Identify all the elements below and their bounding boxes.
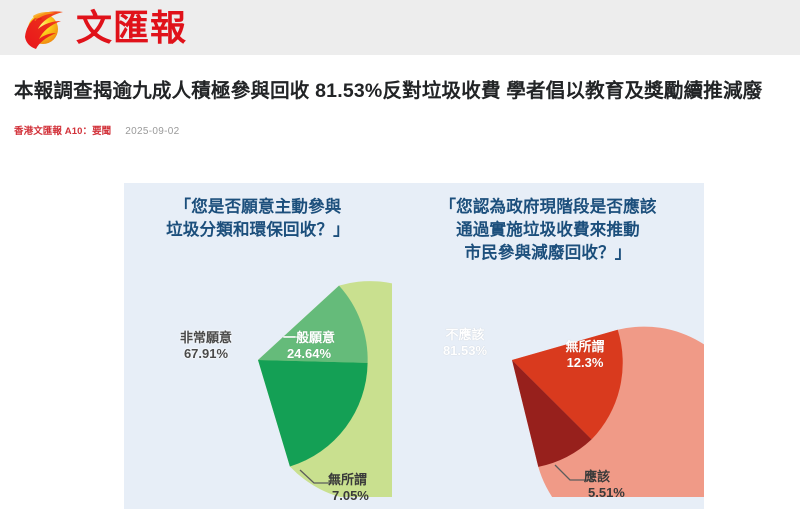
chart-2-title-line-3: 市民參與減廢回收？」 bbox=[392, 242, 704, 265]
chart-1-title: 「您是否願意主動參與 垃圾分類和環保回收？」 bbox=[124, 183, 392, 242]
wenweipo-sunburst-logo-icon: WWP bbox=[22, 7, 74, 51]
chart-2-title-line-1: 「您認為政府現階段是否應該 bbox=[392, 196, 704, 219]
byline-source: 香港文匯報 A10：要聞 bbox=[14, 123, 111, 137]
masthead-divider bbox=[0, 55, 800, 57]
byline-date: 2025-09-02 bbox=[125, 126, 179, 137]
chart-2-title: 「您認為政府現階段是否應該 通過實施垃圾收費來推動 市民參與減廢回收？」 bbox=[392, 183, 704, 265]
chart-2-pie: 不應該 81.53% 無所謂 12.3% 應該 5.51% bbox=[392, 265, 704, 502]
chart-1-pie-svg bbox=[124, 242, 392, 497]
chart-1-pie: 非常願意 67.91% 一般願意 24.64% 無所謂 7.05% bbox=[124, 242, 392, 502]
article-header: 本報調查揭逾九成人積極參與回收 81.53%反對垃圾收費 學者倡以教育及獎勵續推… bbox=[0, 76, 800, 137]
masthead: WWP 文匯報 bbox=[0, 0, 800, 57]
page-title: 本報調查揭逾九成人積極參與回收 81.53%反對垃圾收費 學者倡以教育及獎勵續推… bbox=[14, 76, 786, 107]
chart-1-title-line-2: 垃圾分類和環保回收？」 bbox=[124, 219, 392, 242]
byline: 香港文匯報 A10：要聞 2025-09-02 bbox=[14, 123, 786, 137]
chart-2: 「您認為政府現階段是否應該 通過實施垃圾收費來推動 市民參與減廢回收？」 bbox=[392, 183, 704, 502]
chart-1-title-line-1: 「您是否願意主動參與 bbox=[124, 196, 392, 219]
site-logo-text: 文匯報 bbox=[76, 9, 187, 49]
chart-1: 「您是否願意主動參與 垃圾分類和環保回收？」 非常願意 67 bbox=[124, 183, 392, 502]
page-root: WWP 文匯報 本報調查揭逾九成人積極參與回收 81.53%反對垃圾收費 學者倡… bbox=[0, 0, 800, 509]
svg-text:WWP: WWP bbox=[34, 17, 42, 21]
chart-2-pie-svg bbox=[392, 265, 704, 497]
chart-2-title-line-2: 通過實施垃圾收費來推動 bbox=[392, 219, 704, 242]
site-logo[interactable]: WWP 文匯報 bbox=[22, 7, 187, 51]
charts-panel: 「您是否願意主動參與 垃圾分類和環保回收？」 非常願意 67 bbox=[124, 183, 704, 509]
